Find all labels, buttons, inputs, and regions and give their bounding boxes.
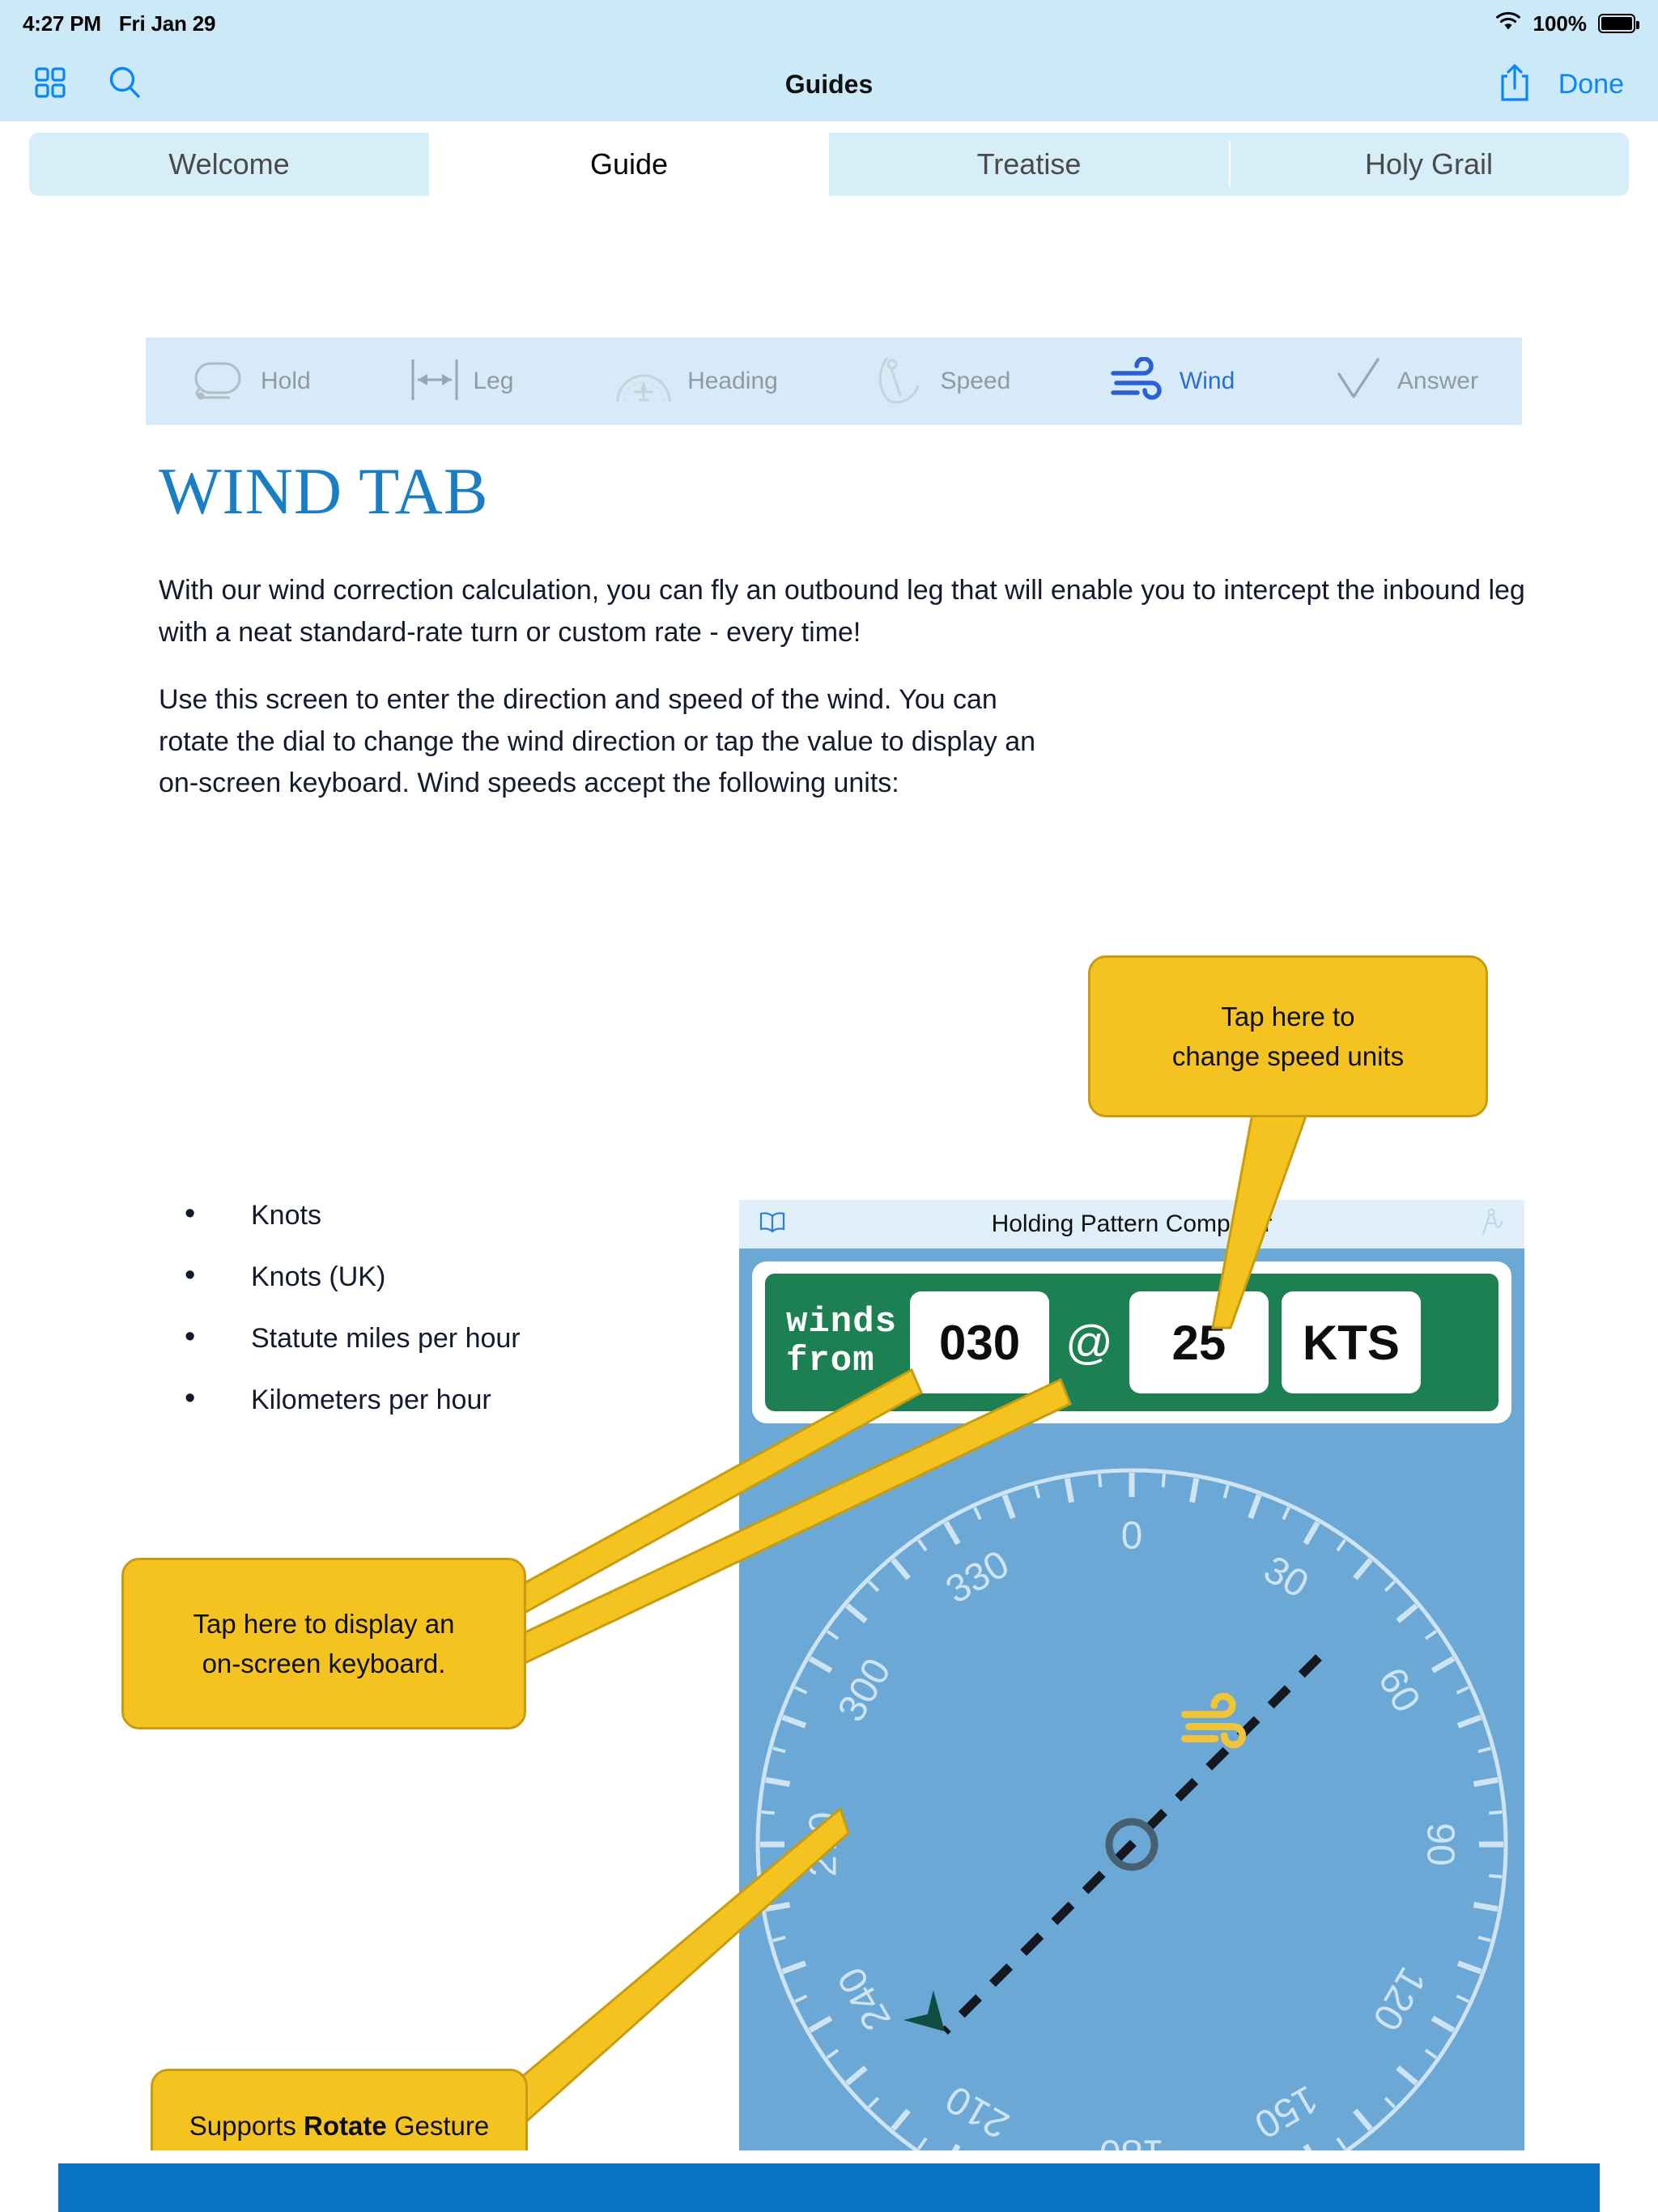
tab-welcome[interactable]: Welcome	[29, 133, 429, 196]
callout-rotate-gesture: Supports Rotate Gesture	[151, 2069, 528, 2150]
tab-guide[interactable]: Guide	[429, 133, 829, 196]
doc-heading: WIND TAB	[159, 453, 489, 530]
checkmark-icon	[1333, 356, 1386, 407]
embedded-app-screenshot: Holding Pattern Computer winds from 030	[739, 1200, 1524, 2150]
dial-tick-label: 180	[1099, 2132, 1164, 2151]
callout-keyboard-line1: Tap here to display an	[193, 1604, 455, 1644]
document-page: Hold Leg Heading Speed	[16, 204, 1642, 2150]
heading-dial-icon	[611, 355, 676, 409]
callout-change-speed-units: Tap here to change speed units	[1088, 955, 1488, 1117]
share-icon[interactable]	[1499, 62, 1531, 107]
guide-icon-leg-label: Leg	[473, 368, 513, 395]
leg-arrows-icon	[408, 356, 461, 407]
screen-root: 4:27 PM Fri Jan 29 100% Guides Done	[0, 0, 1658, 2212]
doc-paragraph-2: Use this screen to enter the direction a…	[159, 679, 1073, 805]
status-time: 4:27 PM	[23, 11, 101, 36]
tab-treatise[interactable]: Treatise	[829, 133, 1229, 196]
dial-tick-label: 120	[1364, 1960, 1434, 2038]
dial-tick-label: 300	[830, 1652, 899, 1729]
wind-speed-unit-button[interactable]: KTS	[1282, 1291, 1421, 1393]
hold-pattern-icon	[189, 357, 249, 406]
app-content-area: winds from 030 @ 25 KTS	[739, 1249, 1524, 2150]
callout-speed-line1: Tap here to	[1172, 997, 1404, 1037]
book-icon[interactable]	[759, 1211, 786, 1238]
status-bar-right: 100%	[1494, 11, 1636, 36]
dial-tick-label: 150	[1248, 2077, 1325, 2146]
callout-onscreen-keyboard: Tap here to display an on-screen keyboar…	[121, 1558, 526, 1729]
search-icon[interactable]	[107, 65, 142, 104]
nav-left-group	[34, 65, 142, 104]
dial-tick-label: 90	[1419, 1823, 1462, 1865]
status-bar: 4:27 PM Fri Jan 29 100%	[0, 0, 1658, 47]
guide-icon-answer-label: Answer	[1397, 368, 1478, 395]
wind-glyph-icon	[1185, 1696, 1243, 1745]
dial-outer-ring	[758, 1470, 1506, 2150]
app-navigation-bar: Holding Pattern Computer	[739, 1200, 1524, 1249]
winds-from-label: winds from	[786, 1304, 897, 1380]
grid-view-icon[interactable]	[34, 66, 66, 103]
app-title: Holding Pattern Computer	[992, 1210, 1273, 1238]
guide-icon-hold-label: Hold	[261, 368, 311, 395]
guide-icon-heading[interactable]: Heading	[611, 355, 778, 409]
battery-icon	[1598, 14, 1635, 33]
callout-rotate-suffix: Gesture	[387, 2111, 490, 2141]
dial-tick-label: 0	[1121, 1515, 1143, 1558]
done-button[interactable]: Done	[1558, 69, 1624, 100]
bottom-accent-bar	[58, 2163, 1600, 2212]
callout-rotate-bold: Rotate	[304, 2111, 387, 2141]
dial-tick-label: 330	[939, 1542, 1017, 1612]
wind-entry-card: winds from 030 @ 25 KTS	[752, 1261, 1511, 1423]
dial-tick-label: 60	[1370, 1661, 1429, 1720]
tab-holy-grail[interactable]: Holy Grail	[1229, 133, 1629, 196]
nav-right-group: Done	[1499, 62, 1624, 107]
wind-speed-field[interactable]: 25	[1129, 1291, 1269, 1393]
guide-icon-wind[interactable]: Wind	[1108, 357, 1235, 406]
wind-direction-line	[945, 1657, 1319, 2031]
doc-paragraph-1: With our wind correction calculation, yo…	[159, 570, 1527, 653]
status-date: Fri Jan 29	[119, 11, 215, 36]
guide-icon-hold[interactable]: Hold	[189, 357, 311, 406]
guide-icon-answer[interactable]: Answer	[1333, 356, 1478, 407]
guide-icon-strip: Hold Leg Heading Speed	[146, 338, 1522, 425]
segmented-tab-bar: Welcome Guide Treatise Holy Grail	[26, 130, 1632, 199]
callout-rotate-prefix: Supports	[189, 2111, 304, 2141]
wind-compass-dial[interactable]: 0306090120150180210240270300330	[739, 1433, 1524, 2150]
wifi-icon	[1494, 11, 1522, 36]
wind-arrow-head	[903, 1990, 959, 2046]
dial-tick-label: 270	[802, 1812, 845, 1877]
at-separator: @	[1062, 1316, 1116, 1370]
status-bar-left: 4:27 PM Fri Jan 29	[23, 11, 215, 36]
wind-direction-field[interactable]: 030	[910, 1291, 1049, 1393]
guide-icon-leg[interactable]: Leg	[408, 356, 513, 407]
guide-icon-wind-label: Wind	[1180, 368, 1235, 395]
speed-gauge-icon	[876, 355, 929, 409]
page-title: Guides	[0, 70, 1658, 100]
navigation-bar: Guides Done	[0, 47, 1658, 121]
wind-icon	[1108, 357, 1168, 406]
dividers-compass-icon[interactable]	[1477, 1207, 1505, 1242]
dial-tick-label: 210	[939, 2077, 1017, 2146]
guide-icon-heading-label: Heading	[687, 368, 778, 395]
dial-tick-label: 30	[1256, 1548, 1316, 1607]
guide-icon-speed-label: Speed	[941, 368, 1011, 395]
guide-icon-speed[interactable]: Speed	[876, 355, 1011, 409]
battery-percent: 100%	[1533, 11, 1588, 36]
wind-green-panel: winds from 030 @ 25 KTS	[765, 1274, 1499, 1411]
dial-tick-label: 240	[830, 1960, 899, 2038]
callout-keyboard-line2: on-screen keyboard.	[193, 1644, 455, 1684]
callout-speed-line2: change speed units	[1172, 1036, 1404, 1077]
